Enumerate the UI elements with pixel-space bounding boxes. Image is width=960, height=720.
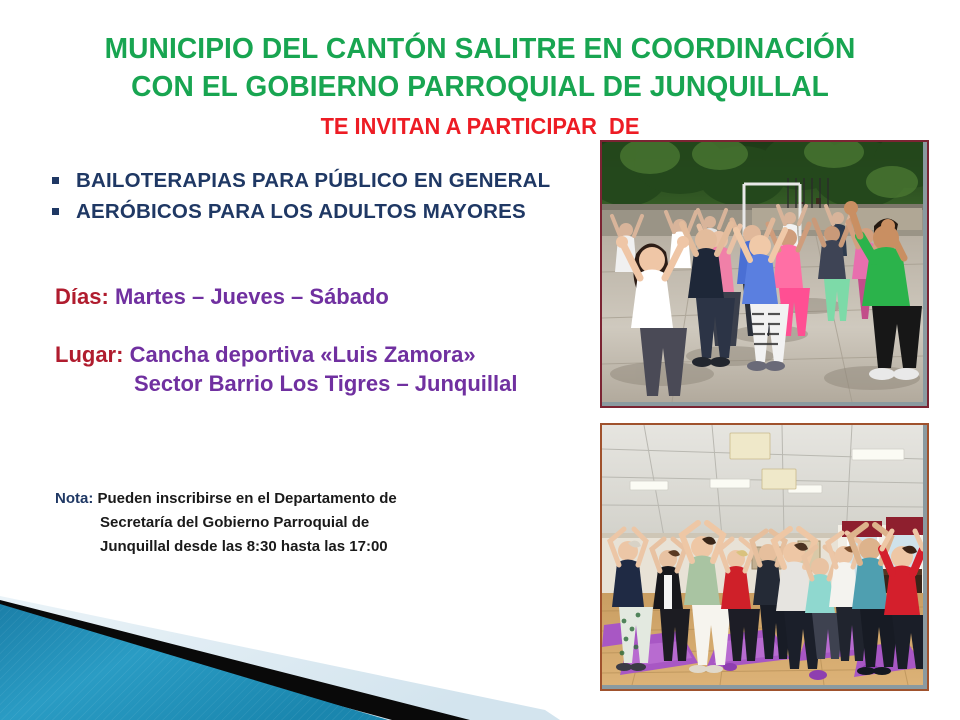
lugar-label: Lugar bbox=[55, 342, 116, 367]
slide-canvas: MUNICIPIO DEL CANTÓN SALITRE EN COORDINA… bbox=[0, 0, 960, 720]
title-block: MUNICIPIO DEL CANTÓN SALITRE EN COORDINA… bbox=[0, 30, 960, 140]
photo-baile-terapia-outdoor bbox=[600, 140, 929, 408]
lugar-value-line-1: Cancha deportiva «Luis Zamora» bbox=[130, 342, 476, 367]
corner-wedge-decoration bbox=[0, 560, 560, 720]
activities-list: BAILOTERAPIAS PARA PÚBLICO EN GENERAL AE… bbox=[52, 166, 597, 228]
photo-aerobicos-adultos-mayores-image bbox=[602, 425, 927, 689]
list-item: BAILOTERAPIAS PARA PÚBLICO EN GENERAL bbox=[52, 166, 597, 195]
nota-text-1: Pueden inscribirse en el Departamento de bbox=[93, 490, 396, 507]
nota-line-1: Nota: Pueden inscribirse en el Departame… bbox=[55, 487, 525, 511]
lugar-row: Lugar: Cancha deportiva «Luis Zamora» bbox=[55, 341, 476, 369]
nota-label: Nota: bbox=[55, 490, 93, 507]
lugar-row-continuation: Sector Barrio Los Tigres – Junquillal bbox=[134, 370, 517, 398]
dias-row: Días: Martes – Jueves – Sábado bbox=[55, 283, 389, 311]
list-item: AERÓBICOS PARA LOS ADULTOS MAYORES bbox=[52, 197, 597, 226]
nota-line-2: Secretaría del Gobierno Parroquial de bbox=[55, 511, 525, 535]
page-subtitle: TE INVITAN A PARTICIPAR DE bbox=[24, 112, 936, 140]
dias-label: Días bbox=[55, 284, 101, 309]
indoor-class-illustration bbox=[602, 425, 923, 685]
photo-aerobicos-adultos-mayores bbox=[600, 423, 929, 691]
lugar-value-line-2: Sector Barrio Los Tigres – Junquillal bbox=[134, 371, 517, 396]
page-title-line-2: CON EL GOBIERNO PARROQUIAL DE JUNQUILLAL bbox=[14, 68, 945, 106]
nota-block: Nota: Pueden inscribirse en el Departame… bbox=[55, 487, 525, 559]
page-title-line-1: MUNICIPIO DEL CANTÓN SALITRE EN COORDINA… bbox=[14, 30, 945, 68]
outdoor-class-illustration bbox=[602, 142, 923, 402]
list-item-label: AERÓBICOS PARA LOS ADULTOS MAYORES bbox=[76, 200, 526, 224]
dias-separator: : bbox=[101, 284, 114, 309]
nota-line-3: Junquillal desde las 8:30 hasta las 17:0… bbox=[55, 535, 525, 559]
corner-wedge-shapes bbox=[0, 560, 560, 720]
list-item-label: BAILOTERAPIAS PARA PÚBLICO EN GENERAL bbox=[76, 169, 550, 193]
photo-baile-terapia-outdoor-image bbox=[602, 142, 927, 406]
dias-value: Martes – Jueves – Sábado bbox=[115, 284, 389, 309]
square-bullet-icon bbox=[52, 208, 59, 215]
lugar-separator: : bbox=[116, 342, 129, 367]
square-bullet-icon bbox=[52, 177, 59, 184]
